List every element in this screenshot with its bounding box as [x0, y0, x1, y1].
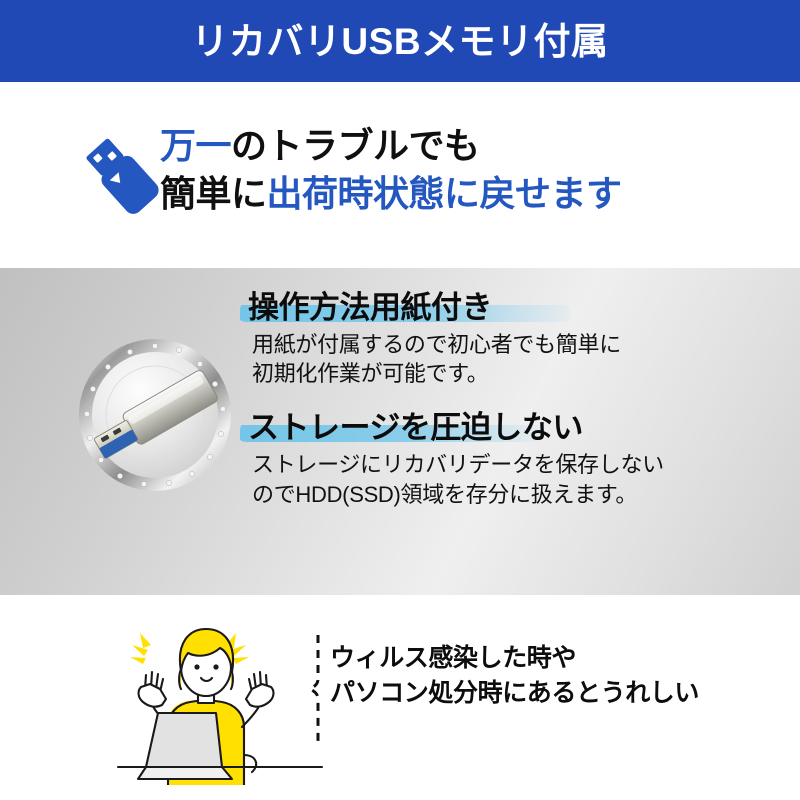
feature-title-2: ストレージを圧迫しない — [248, 410, 583, 445]
sparkle-left — [130, 633, 151, 664]
feature-title-wrap-2: ストレージを圧迫しない — [244, 410, 587, 446]
feature-body-2: ストレージにリカバリデータを保存しない のでHDD(SSD)領域を存分に扱えます… — [252, 450, 792, 509]
feature-list: 操作方法用紙付き 用紙が付属するので初心者でも簡単に 初期化作業が可能です。 ス… — [244, 290, 792, 509]
feature-block-2: ストレージを圧迫しない ストレージにリカバリデータを保存しない のでHDD(SS… — [244, 410, 792, 508]
feature-block-1: 操作方法用紙付き 用紙が付属するので初心者でも簡単に 初期化作業が可能です。 — [244, 290, 792, 388]
feature-body-1: 用紙が付属するので初心者でも簡単に 初期化作業が可能です。 — [252, 330, 792, 389]
note-section: ウィルス感染した時や パソコン処分時にあるとうれしい — [0, 595, 800, 800]
dashed-curly-brace — [296, 633, 330, 745]
features-section: 操作方法用紙付き 用紙が付属するので初心者でも簡単に 初期化作業が可能です。 ス… — [0, 268, 800, 595]
feature-body-2-line-2: のでHDD(SSD)領域を存分に扱えます。 — [252, 480, 792, 509]
feature-body-2-line-1: ストレージにリカバリデータを保存しない — [252, 450, 792, 479]
headline-line-2: 簡単に出荷時状態に戻せます — [160, 170, 780, 218]
note-line-2: パソコン処分時にあるとうれしい — [330, 676, 790, 711]
banner-title: リカバリUSBメモリ付属 — [191, 23, 608, 60]
headline-line-2-rest: 簡単に — [160, 173, 267, 214]
usb-product-photo — [60, 320, 250, 510]
headline-line-2-accent: 出荷時状態に戻せます — [267, 173, 622, 214]
feature-title-1: 操作方法用紙付き — [248, 290, 492, 325]
note-line-1: ウィルス感染した時や — [330, 641, 790, 676]
header-banner: リカバリUSBメモリ付属 — [0, 0, 800, 82]
headline-line-1: 万一のトラブルでも — [160, 122, 780, 170]
feature-title-wrap-1: 操作方法用紙付き — [244, 290, 496, 326]
feature-body-1-line-1: 用紙が付属するので初心者でも簡単に — [252, 330, 792, 359]
feature-body-1-line-2: 初期化作業が可能です。 — [252, 359, 792, 388]
headline-line-1-rest: のトラブルでも — [231, 125, 480, 166]
headline-text: 万一のトラブルでも 簡単に出荷時状態に戻せます — [160, 122, 780, 217]
headline-line-1-accent: 万一 — [160, 125, 231, 166]
usb-flash-drive-icon — [76, 130, 168, 222]
note-text: ウィルス感染した時や パソコン処分時にあるとうれしい — [330, 641, 790, 711]
headline-section: 万一のトラブルでも 簡単に出荷時状態に戻せます — [0, 82, 800, 268]
